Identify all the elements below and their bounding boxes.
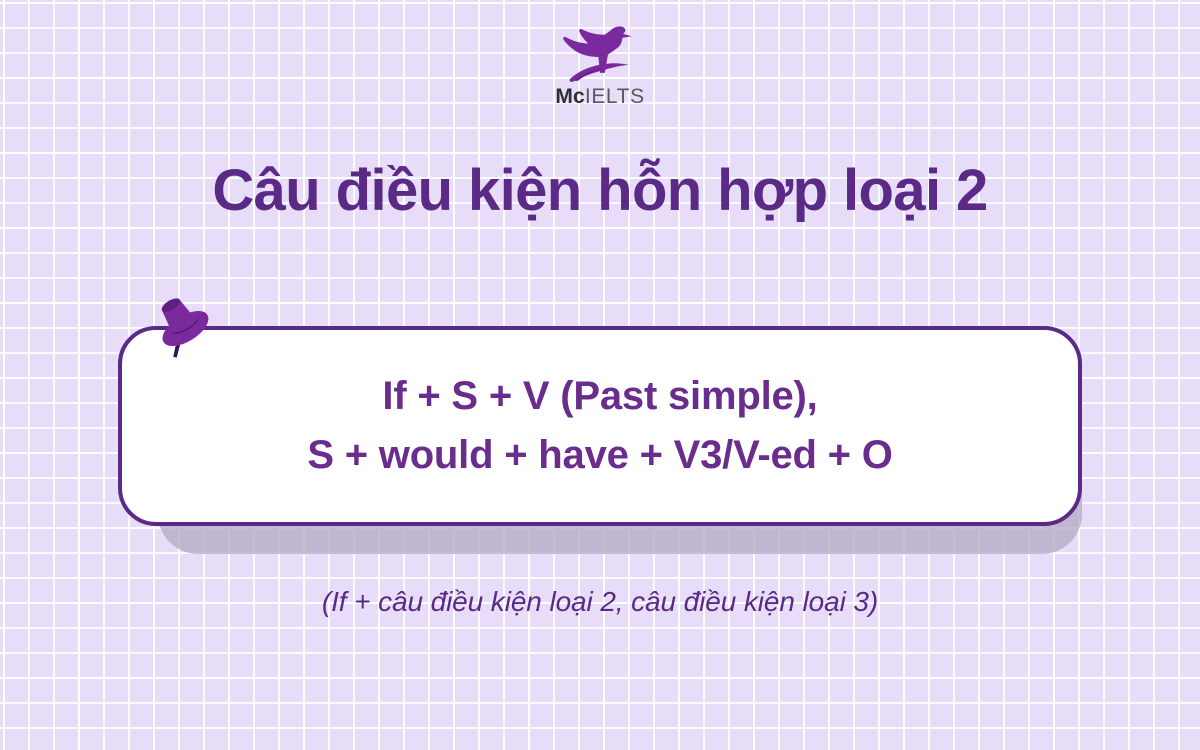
brand-name-mc: Mc (555, 85, 585, 108)
page-title: Câu điều kiện hỗn hợp loại 2 (0, 158, 1200, 225)
hummingbird-logo-icon (552, 22, 648, 84)
brand-logo: McIELTS (0, 22, 1200, 107)
formula-line-1: If + S + V (Past simple), (382, 373, 817, 420)
formula-line-2: S + would + have + V3/V-ed + O (307, 432, 892, 479)
formula-caption: (If + câu điều kiện loại 2, câu điều kiệ… (0, 586, 1200, 618)
formula-card: If + S + V (Past simple), S + would + ha… (118, 326, 1082, 526)
formula-card-area: If + S + V (Past simple), S + would + ha… (118, 326, 1082, 556)
slide-canvas: McIELTS Câu điều kiện hỗn hợp loại 2 If … (0, 0, 1200, 750)
brand-name-ielts: IELTS (585, 85, 645, 108)
brand-name: McIELTS (555, 86, 644, 107)
